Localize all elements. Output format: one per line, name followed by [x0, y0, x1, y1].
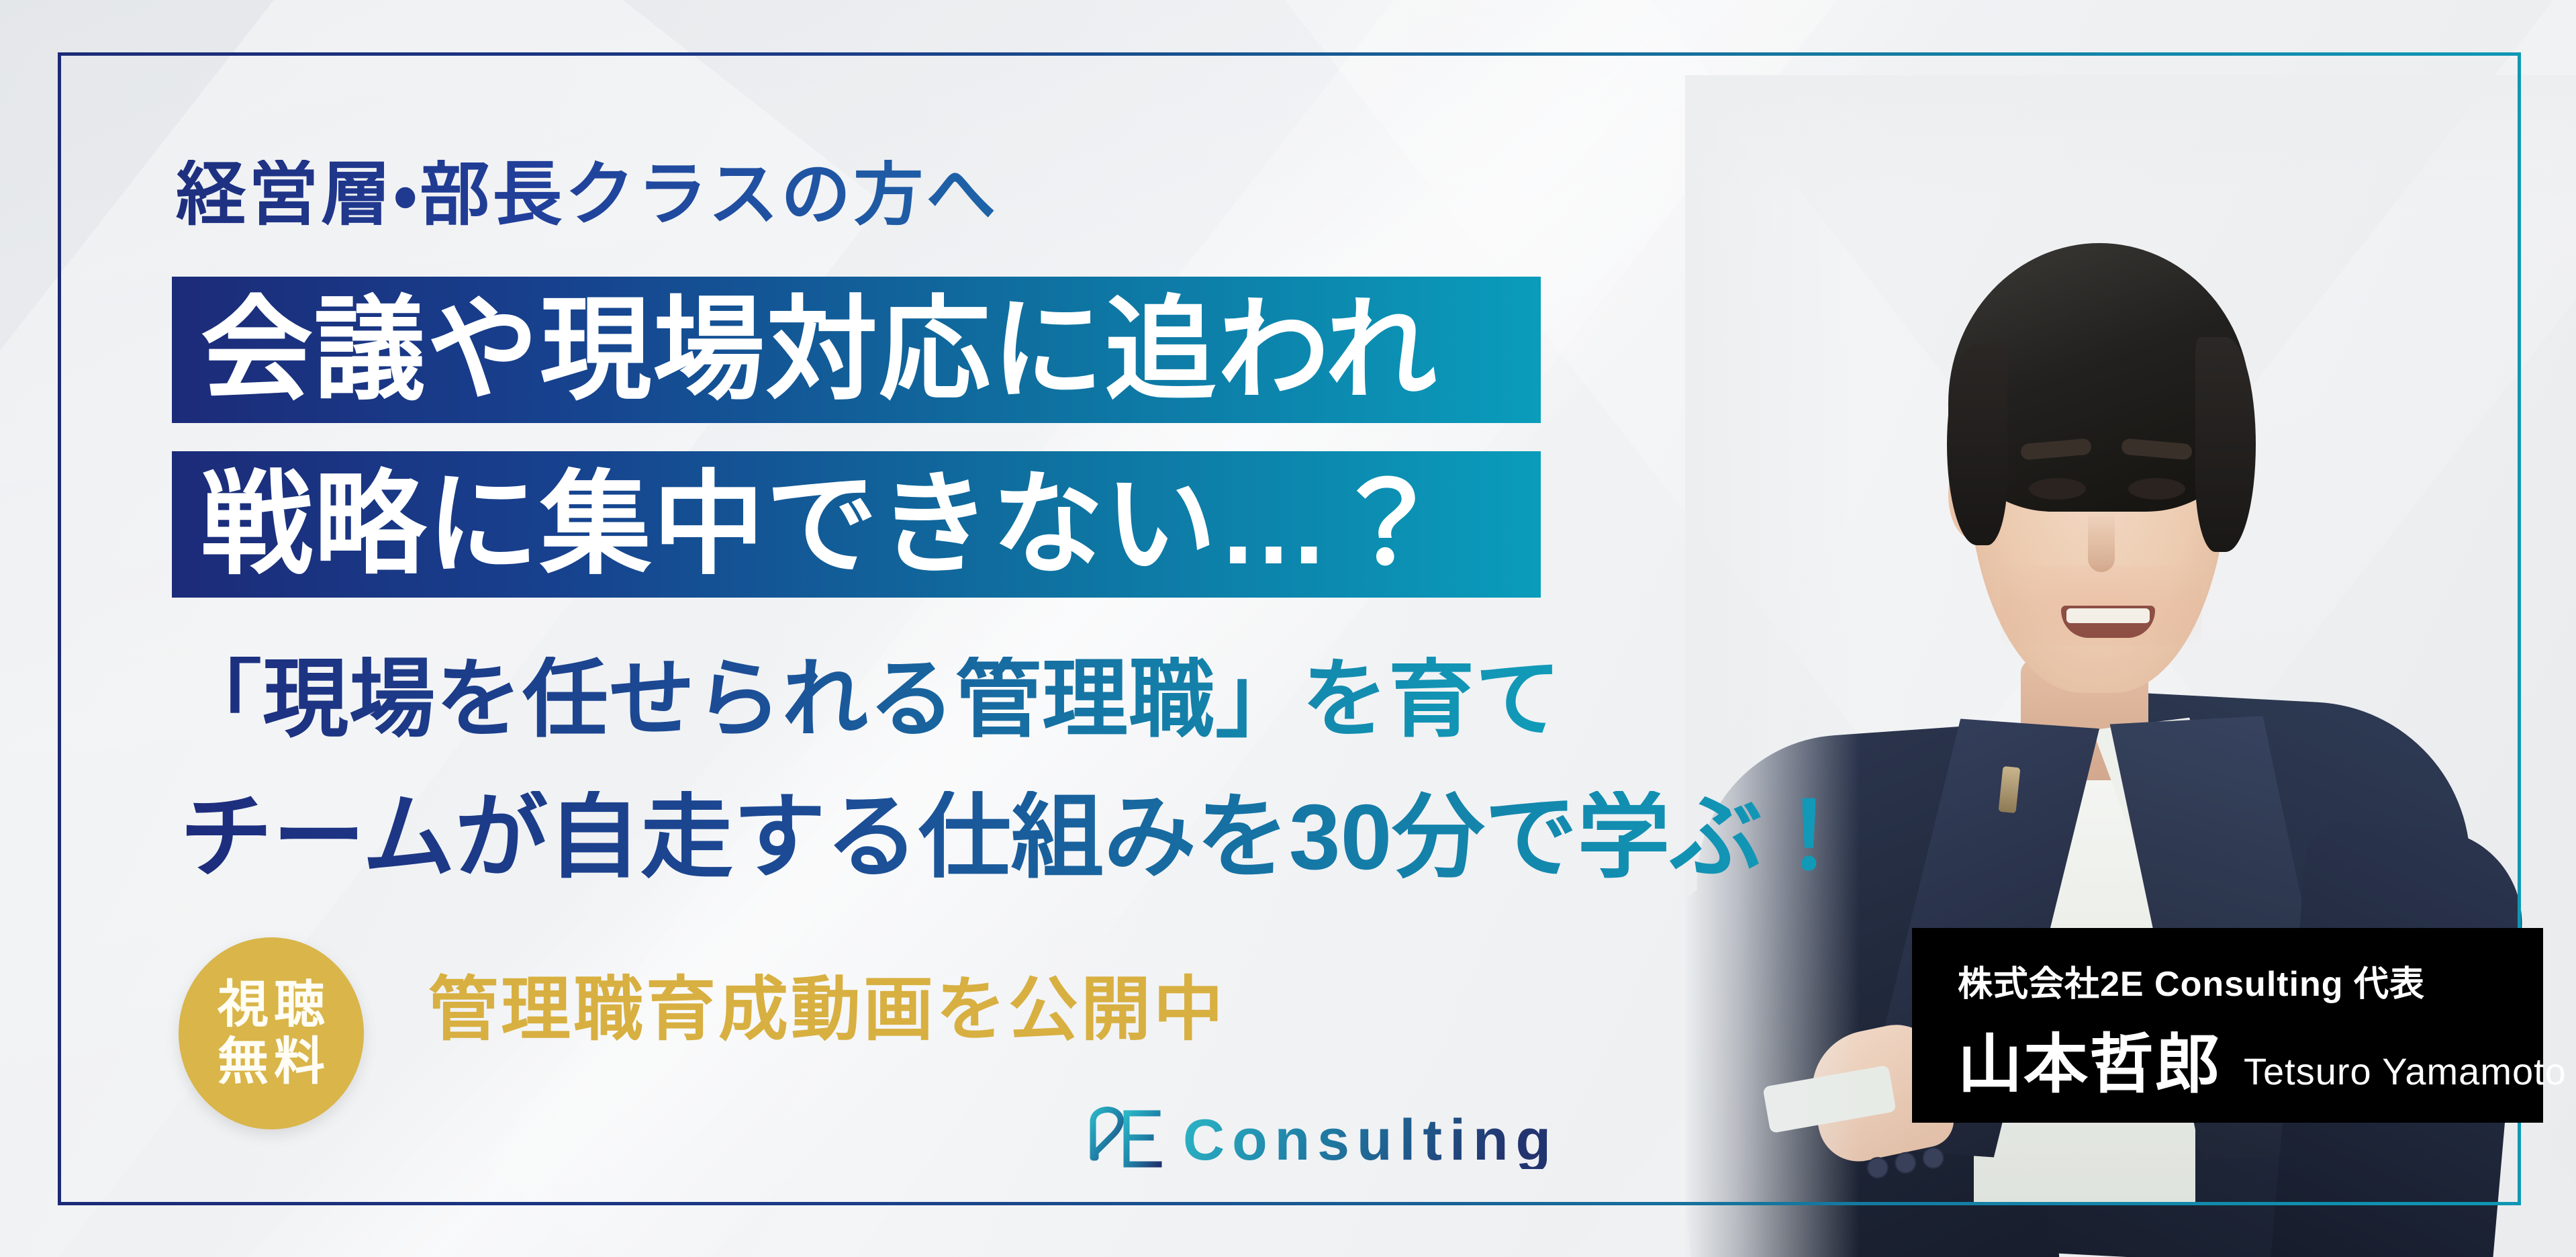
- subheadline-line-2: チームが自走する仕組みを30分で学ぶ！: [180, 791, 1855, 884]
- logo-wordmark: Consulting: [1183, 1111, 1558, 1169]
- logo-2e-monogram-icon: [1088, 1104, 1167, 1176]
- headline-band-2: 戦略に集中できない…？: [172, 451, 1541, 598]
- photo-mouth: [2061, 606, 2155, 638]
- speaker-nameplate: 株式会社2E Consulting 代表 山本哲郎 Tetsuro Yamamo…: [1912, 928, 2543, 1123]
- brand-logo: Consulting: [1088, 1104, 1558, 1176]
- banner-canvas: 経営層・部長クラスの方へ 会議や現場対応に追われ 戦略に集中できない…？ 「現場…: [0, 0, 2576, 1257]
- photo-eye-left: [2029, 478, 2086, 500]
- badge-line-1: 視聴: [212, 976, 330, 1033]
- photo-hair-left: [1947, 344, 2007, 545]
- badge-line-2: 無料: [212, 1033, 330, 1090]
- photo-hair-right: [2195, 337, 2256, 552]
- subheadline-line-1: 「現場を任せられる管理職」を育て: [176, 657, 1562, 743]
- speaker-name-jp: 山本哲郎: [1958, 1033, 2221, 1097]
- cta-text: 管理職育成動画を公開中: [428, 975, 1226, 1045]
- speaker-name-en: Tetsuro Yamamoto: [2244, 1046, 2567, 1097]
- photo-top-fade: [1685, 75, 2576, 209]
- free-viewing-badge: 視聴 無料: [179, 937, 364, 1129]
- speaker-company: 株式会社2E Consulting 代表: [1958, 967, 2543, 1002]
- speaker-name-row: 山本哲郎 Tetsuro Yamamoto: [1958, 1033, 2543, 1097]
- headline-band-2-text: 戦略に集中できない…？: [179, 468, 1444, 581]
- photo-eye-right: [2128, 478, 2185, 500]
- headline-band-1: 会議や現場対応に追われ: [172, 277, 1541, 423]
- photo-left-fade: [1685, 75, 1860, 1257]
- photo-nose: [2088, 512, 2115, 572]
- headline-band-1-text: 会議や現場対応に追われ: [178, 293, 1438, 406]
- eyebrow-text: 経営層・部長クラスの方へ: [176, 160, 998, 230]
